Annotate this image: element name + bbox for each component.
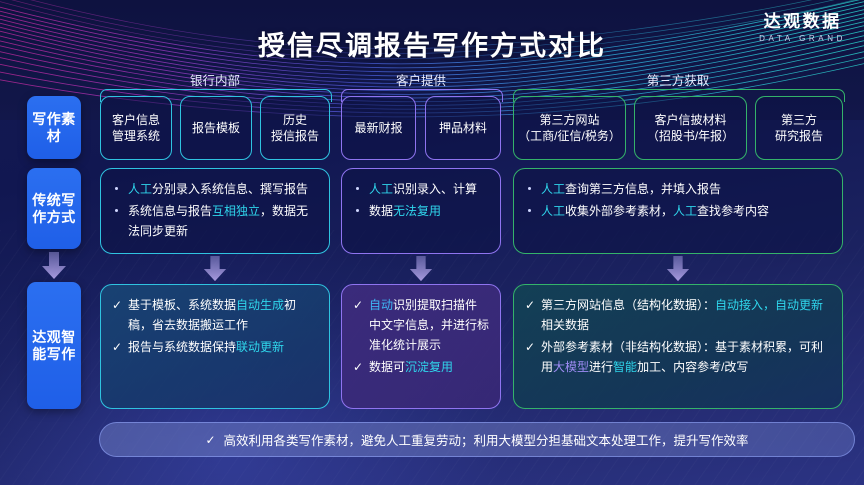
bullet-icon — [356, 187, 359, 190]
rail-label-materials: 写作素材 — [27, 111, 81, 145]
text-run: 自动接入，自动更新 — [715, 298, 823, 312]
material-card-bank-1[interactable]: 报告模板 — [180, 96, 252, 160]
arrow-down-icon-customer — [408, 256, 434, 282]
check-icon: ✓ — [525, 337, 535, 357]
bullet-icon — [528, 187, 531, 190]
card-line1: 历史 — [271, 112, 319, 128]
material-card-thirdparty-0[interactable]: 第三方网站 （工商/征信/税务） — [513, 96, 626, 160]
bullet-icon — [528, 209, 531, 212]
list-item: ✓自动识别提取扫描件中文字信息，并进行标准化统计展示 — [353, 295, 489, 355]
summary-bar: ✓ 高效利用各类写作素材，避免人工重复劳动；利用大模型分担基础文本处理工作，提升… — [99, 422, 855, 457]
card-line2: （招股书/年报） — [647, 128, 734, 144]
smart-panel-thirdparty: ✓第三方网站信息（结构化数据）：自动接入，自动更新相关数据✓外部参考素材（非结构… — [513, 284, 843, 409]
text-run: 自动 — [369, 298, 393, 312]
smart-bullets-bank: ✓基于模板、系统数据自动生成初稿，省去数据搬运工作✓报告与系统数据保持联动更新 — [112, 295, 318, 357]
material-card-customer-1[interactable]: 押品材料 — [425, 96, 501, 160]
text-run: 查询第三方信息，并填入报告 — [565, 182, 721, 196]
text-run: 系统信息与报告 — [128, 204, 212, 218]
traditional-panel-customer: 人工识别录入、计算数据无法复用 — [341, 168, 501, 254]
list-item: 人工识别录入、计算 — [353, 179, 489, 199]
check-icon: ✓ — [205, 433, 215, 447]
rail-traditional-writing[interactable]: 传统写作方式 — [27, 168, 81, 249]
check-icon: ✓ — [353, 357, 363, 377]
card-line1: 押品材料 — [439, 120, 487, 136]
text-run: 自动生成 — [236, 298, 284, 312]
text-run: 第三方网站信息（结构化数据）： — [541, 298, 715, 312]
traditional-bullets-customer: 人工识别录入、计算数据无法复用 — [353, 179, 489, 221]
group-label-customer: 客户提供 — [341, 70, 501, 89]
traditional-bullets-thirdparty: 人工查询第三方信息，并填入报告人工收集外部参考素材，人工查找参考内容 — [525, 179, 831, 221]
logo-text-en: DATA GRAND — [759, 34, 846, 43]
list-item: 人工分别录入系统信息、撰写报告 — [112, 179, 318, 199]
list-item: 人工查询第三方信息，并填入报告 — [525, 179, 831, 199]
card-line2: （工商/征信/税务） — [518, 128, 621, 144]
list-item: ✓报告与系统数据保持联动更新 — [112, 337, 318, 357]
text-run: 互相独立 — [212, 204, 260, 218]
list-item: 系统信息与报告互相独立，数据无法同步更新 — [112, 201, 318, 241]
traditional-panel-bank: 人工分别录入系统信息、撰写报告系统信息与报告互相独立，数据无法同步更新 — [100, 168, 330, 254]
card-line1: 第三方网站 — [518, 112, 621, 128]
text-run: 加工、内容参考/改写 — [637, 360, 748, 374]
list-item: ✓数据可沉淀复用 — [353, 357, 489, 377]
page-title: 授信尽调报告写作方式对比 — [0, 24, 864, 63]
traditional-bullets-bank: 人工分别录入系统信息、撰写报告系统信息与报告互相独立，数据无法同步更新 — [112, 179, 318, 241]
material-card-thirdparty-1[interactable]: 客户信披材料 （招股书/年报） — [634, 96, 747, 160]
text-run: 分别录入系统信息、撰写报告 — [152, 182, 308, 196]
smart-bullets-thirdparty: ✓第三方网站信息（结构化数据）：自动接入，自动更新相关数据✓外部参考素材（非结构… — [525, 295, 831, 377]
logo-text-cn: 达观数据 — [759, 12, 846, 31]
list-item: ✓外部参考素材（非结构化数据）：基于素材积累，可利用大模型进行智能加工、内容参考… — [525, 337, 831, 377]
text-run: 沉淀复用 — [405, 360, 453, 374]
text-run: 人工 — [541, 204, 565, 218]
smart-panel-customer: ✓自动识别提取扫描件中文字信息，并进行标准化统计展示✓数据可沉淀复用 — [341, 284, 501, 409]
bullet-icon — [115, 209, 118, 212]
rail-label-traditional: 传统写作方式 — [27, 192, 81, 226]
check-icon: ✓ — [353, 295, 363, 315]
arrow-down-icon-bank — [202, 256, 228, 282]
rail-smart-writing[interactable]: 达观智能写作 — [27, 282, 81, 409]
list-item: ✓基于模板、系统数据自动生成初稿，省去数据搬运工作 — [112, 295, 318, 335]
text-run: 人工 — [128, 182, 152, 196]
text-run: 联动更新 — [236, 340, 284, 354]
group-label-bank: 银行内部 — [100, 70, 330, 89]
text-run: 智能 — [613, 360, 637, 374]
card-line2: 管理系统 — [112, 128, 160, 144]
text-run: 数据可 — [369, 360, 405, 374]
list-item: 数据无法复用 — [353, 201, 489, 221]
smart-panel-bank: ✓基于模板、系统数据自动生成初稿，省去数据搬运工作✓报告与系统数据保持联动更新 — [100, 284, 330, 409]
text-run: 数据 — [369, 204, 393, 218]
card-line1: 第三方 — [775, 112, 823, 128]
material-card-bank-2[interactable]: 历史 授信报告 — [260, 96, 330, 160]
card-line1: 客户信披材料 — [647, 112, 734, 128]
summary-text: 高效利用各类写作素材，避免人工重复劳动；利用大模型分担基础文本处理工作，提升写作… — [224, 430, 749, 449]
group-label-thirdparty: 第三方获取 — [513, 70, 843, 89]
text-run: 识别录入、计算 — [393, 182, 477, 196]
rail-writing-materials[interactable]: 写作素材 — [27, 96, 81, 159]
text-run: 相关数据 — [541, 318, 589, 332]
text-run: 收集外部参考素材， — [565, 204, 673, 218]
card-line1: 最新财报 — [354, 120, 402, 136]
slide-canvas: 授信尽调报告写作方式对比 达观数据 DATA GRAND 银行内部 客户提供 第… — [0, 0, 864, 485]
text-run: 无法复用 — [393, 204, 441, 218]
smart-bullets-customer: ✓自动识别提取扫描件中文字信息，并进行标准化统计展示✓数据可沉淀复用 — [353, 295, 489, 377]
check-icon: ✓ — [112, 337, 122, 357]
list-item: ✓第三方网站信息（结构化数据）：自动接入，自动更新相关数据 — [525, 295, 831, 335]
check-icon: ✓ — [112, 295, 122, 315]
text-run: 进行 — [589, 360, 613, 374]
text-run: 人工 — [673, 204, 697, 218]
text-run: 人工 — [541, 182, 565, 196]
rail-arrow-down-icon — [41, 252, 67, 280]
bullet-icon — [115, 187, 118, 190]
material-card-customer-0[interactable]: 最新财报 — [341, 96, 416, 160]
card-line1: 报告模板 — [192, 120, 240, 136]
brand-logo: 达观数据 DATA GRAND — [759, 12, 846, 43]
bullet-icon — [356, 209, 359, 212]
text-run: 报告与系统数据保持 — [128, 340, 236, 354]
material-card-bank-0[interactable]: 客户信息 管理系统 — [100, 96, 172, 160]
check-icon: ✓ — [525, 295, 535, 315]
text-run: 人工 — [369, 182, 393, 196]
traditional-panel-thirdparty: 人工查询第三方信息，并填入报告人工收集外部参考素材，人工查找参考内容 — [513, 168, 843, 254]
material-card-thirdparty-2[interactable]: 第三方 研究报告 — [755, 96, 843, 160]
card-line2: 研究报告 — [775, 128, 823, 144]
text-run: 查找参考内容 — [697, 204, 769, 218]
card-line2: 授信报告 — [271, 128, 319, 144]
card-line1: 客户信息 — [112, 112, 160, 128]
list-item: 人工收集外部参考素材，人工查找参考内容 — [525, 201, 831, 221]
arrow-down-icon-thirdparty — [665, 256, 691, 282]
rail-label-smart: 达观智能写作 — [27, 329, 81, 363]
text-run: 大模型 — [553, 360, 589, 374]
text-run: 基于模板、系统数据 — [128, 298, 236, 312]
